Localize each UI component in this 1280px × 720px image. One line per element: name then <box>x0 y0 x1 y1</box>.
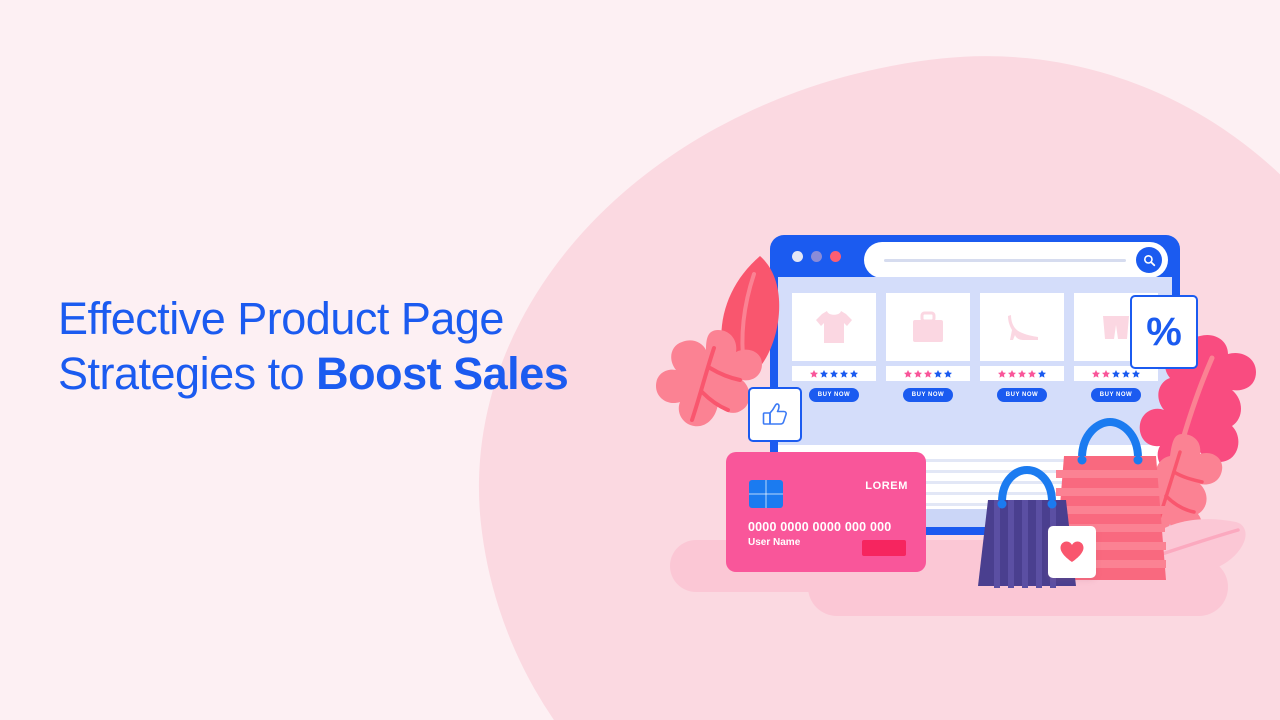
star-icon-blue <box>840 370 848 378</box>
percent-badge-label: % <box>1146 310 1182 355</box>
star-icon-pink <box>1102 370 1110 378</box>
star-icon-blue <box>1122 370 1130 378</box>
product-grid: BUY NOW <box>778 277 1172 402</box>
heart-badge[interactable] <box>1048 526 1096 578</box>
page-title: Effective Product Page Strategies to Boo… <box>58 292 698 402</box>
star-icon-blue <box>1038 370 1046 378</box>
product-image <box>980 293 1064 361</box>
rating-stars <box>980 366 1064 381</box>
tshirt-icon <box>812 305 856 349</box>
star-icon-pink <box>1018 370 1026 378</box>
star-icon-pink <box>1028 370 1036 378</box>
star-icon-pink <box>904 370 912 378</box>
star-icon-blue <box>830 370 838 378</box>
card-brand-label: LOREM <box>865 480 908 492</box>
slide-canvas: Effective Product Page Strategies to Boo… <box>0 0 1280 720</box>
card-chip-icon <box>749 480 783 508</box>
thumbs-up-icon <box>760 400 790 430</box>
star-icon-pink <box>998 370 1006 378</box>
window-dot-purple-icon[interactable] <box>811 251 822 262</box>
search-input[interactable] <box>864 242 1168 278</box>
search-icon[interactable] <box>1136 247 1162 273</box>
product-card[interactable]: BUY NOW <box>886 293 970 402</box>
rating-stars <box>886 366 970 381</box>
headline-line-2-normal: Strategies to <box>58 348 316 399</box>
briefcase-icon <box>906 305 950 349</box>
product-image <box>886 293 970 361</box>
star-icon-blue <box>820 370 828 378</box>
star-icon-blue <box>934 370 942 378</box>
star-icon-pink <box>810 370 818 378</box>
headline-line-1: Effective Product Page <box>58 293 504 344</box>
ecommerce-illustration: BUY NOW <box>640 100 1280 660</box>
search-input-placeholder-line <box>884 259 1126 262</box>
buy-now-button[interactable]: BUY NOW <box>809 388 859 402</box>
star-icon-blue <box>944 370 952 378</box>
card-stripe <box>862 540 906 556</box>
window-dot-gray-icon[interactable] <box>792 251 803 262</box>
star-icon-pink <box>1092 370 1100 378</box>
buy-now-button[interactable]: BUY NOW <box>1091 388 1141 402</box>
window-dot-red-icon[interactable] <box>830 251 841 262</box>
headline-line-2-bold: Boost Sales <box>316 348 568 399</box>
buy-now-button[interactable]: BUY NOW <box>997 388 1047 402</box>
rating-stars <box>792 366 876 381</box>
star-icon-blue <box>850 370 858 378</box>
product-image <box>792 293 876 361</box>
star-icon-blue <box>1112 370 1120 378</box>
star-icon-pink <box>1008 370 1016 378</box>
product-card[interactable]: BUY NOW <box>980 293 1064 402</box>
browser-title-bar <box>778 235 1172 277</box>
heart-icon <box>1059 540 1085 564</box>
star-icon-pink <box>924 370 932 378</box>
star-icon-pink <box>914 370 922 378</box>
card-number: 0000 0000 0000 000 000 <box>748 520 891 534</box>
product-card[interactable]: BUY NOW <box>792 293 876 402</box>
card-holder-name: User Name <box>748 537 800 548</box>
thumbs-up-badge[interactable] <box>748 387 802 442</box>
percent-badge[interactable]: % <box>1130 295 1198 369</box>
credit-card: LOREM 0000 0000 0000 000 000 User Name <box>726 452 926 572</box>
window-controls <box>792 251 841 262</box>
high-heel-icon <box>1000 305 1044 349</box>
buy-now-button[interactable]: BUY NOW <box>903 388 953 402</box>
